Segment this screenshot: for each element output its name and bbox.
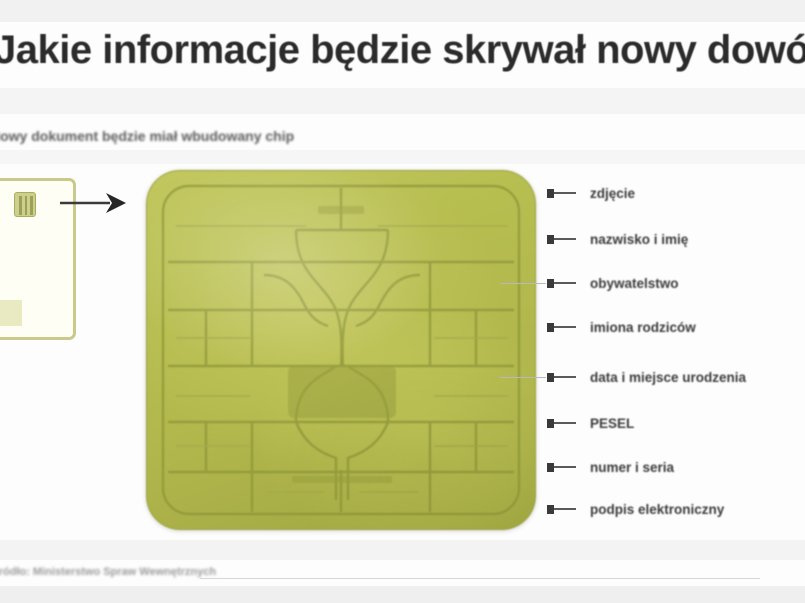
smart-card-chip <box>146 170 536 530</box>
chip-data-label: nazwisko i imię <box>545 226 805 252</box>
chip-data-label-text: zdjęcie <box>590 186 635 201</box>
source-note: Źródło: Ministerstwo Spraw Wewnętrznych <box>0 566 216 578</box>
bullet-marker-icon <box>547 279 554 288</box>
footer-divider <box>200 578 760 579</box>
leader-line <box>554 282 576 284</box>
chip-data-label-list: zdjęcienazwisko i imięobywatelstwoimiona… <box>545 176 805 526</box>
leader-line <box>554 508 576 510</box>
chip-data-label-text: podpis elektroniczny <box>590 502 724 517</box>
chip-data-label: data i miejsce urodzenia <box>545 364 805 390</box>
chip-trace-pattern <box>146 170 536 530</box>
chip-data-label-text: nazwisko i imię <box>590 232 688 247</box>
page-band <box>0 150 805 164</box>
leader-line <box>554 422 576 424</box>
leader-line <box>554 238 576 240</box>
id-card-stripe <box>0 300 22 326</box>
page-title: Jakie informacje będzie skrywał nowy dow… <box>0 24 805 76</box>
chip-data-label-text: imiona rodziców <box>590 320 696 335</box>
chip-data-label-text: data i miejsce urodzenia <box>590 370 746 385</box>
chip-data-label: imiona rodziców <box>545 314 805 340</box>
bullet-marker-icon <box>547 419 554 428</box>
mini-chip-icon <box>14 192 36 217</box>
page-band <box>0 88 805 114</box>
leader-line <box>554 466 576 468</box>
bullet-marker-icon <box>547 505 554 514</box>
page-subtitle: Nowy dokument będzie miał wbudowany chip <box>0 128 550 148</box>
bullet-marker-icon <box>547 189 554 198</box>
leader-line <box>554 326 576 328</box>
infographic-page: Jakie informacje będzie skrywał nowy dow… <box>0 0 805 603</box>
chip-data-label: zdjęcie <box>545 180 805 206</box>
page-band <box>0 586 805 603</box>
chip-data-label-text: PESEL <box>590 416 634 431</box>
chip-data-label: obywatelstwo <box>545 270 805 296</box>
leader-connector-line <box>500 283 546 284</box>
chip-data-label-text: numer i seria <box>590 460 674 475</box>
chip-data-label: numer i seria <box>545 454 805 480</box>
leader-connector-line <box>500 377 546 378</box>
page-band <box>0 540 805 560</box>
bullet-marker-icon <box>547 463 554 472</box>
chip-surface <box>146 170 536 530</box>
chip-data-label-text: obywatelstwo <box>590 276 679 291</box>
chip-data-label: PESEL <box>545 410 805 436</box>
arrow-right-icon <box>60 190 130 216</box>
leader-line <box>554 192 576 194</box>
bullet-marker-icon <box>547 235 554 244</box>
bullet-marker-icon <box>547 323 554 332</box>
bullet-marker-icon <box>547 373 554 382</box>
chip-data-label: podpis elektroniczny <box>545 496 805 522</box>
page-band <box>0 0 805 22</box>
leader-line <box>554 376 576 378</box>
